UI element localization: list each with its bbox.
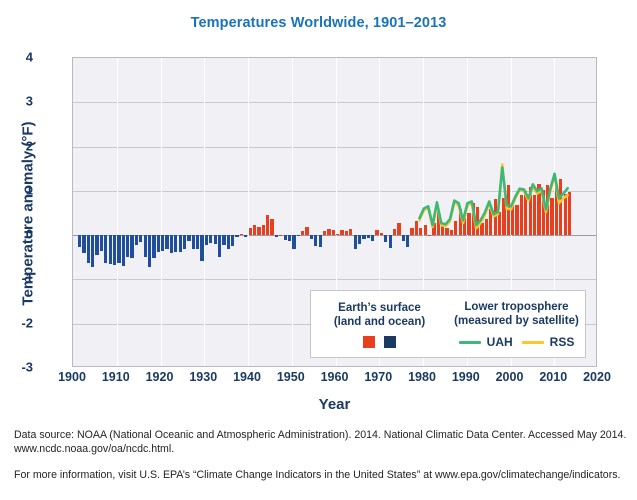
legend-surface-line2: (land and ocean) (334, 316, 425, 328)
legend-swatch-negative (384, 336, 396, 348)
legend-label-rss: RSS (550, 335, 575, 349)
legend-line-uah-icon (459, 341, 481, 344)
legend-troposphere-heading: Lower troposphere (measured by satellite… (454, 301, 579, 328)
figure-root: Temperatures Worldwide, 1901–2013 43210-… (0, 0, 637, 500)
legend-item-uah: UAH (459, 335, 513, 349)
legend-swatch-positive (363, 336, 375, 348)
legend-troposphere-items: UAH RSS (459, 335, 575, 349)
legend-troposphere-line2: (measured by satellite) (454, 315, 579, 327)
legend-surface-heading: Earth’s surface (land and ocean) (334, 302, 425, 329)
x-tick-2020: 2020 (567, 370, 627, 384)
legend-surface-line1: Earth’s surface (338, 302, 421, 314)
footer-data-source: Data source: NOAA (National Oceanic and … (14, 428, 628, 457)
legend-group-surface: Earth’s surface (land and ocean) (311, 291, 448, 357)
legend-item-rss: RSS (522, 335, 575, 349)
legend-label-uah: UAH (487, 335, 513, 349)
y-tick-4: 4 (0, 50, 33, 65)
legend-troposphere-line1: Lower troposphere (464, 301, 568, 313)
legend-line-rss-icon (522, 341, 544, 344)
line-rss (419, 164, 567, 228)
chart-title: Temperatures Worldwide, 1901–2013 (0, 15, 637, 31)
legend-group-troposphere: Lower troposphere (measured by satellite… (448, 291, 585, 357)
footer-notes: Data source: NOAA (National Oceanic and … (14, 428, 628, 493)
legend-surface-swatches (363, 336, 396, 348)
y-axis-title: Temperature anomaly (°F) (20, 64, 37, 364)
footer-more-information: For more information, visit U.S. EPA’s “… (14, 468, 628, 482)
chart-legend: Earth’s surface (land and ocean) Lower t… (310, 290, 586, 358)
x-axis-title: Year (72, 396, 597, 413)
